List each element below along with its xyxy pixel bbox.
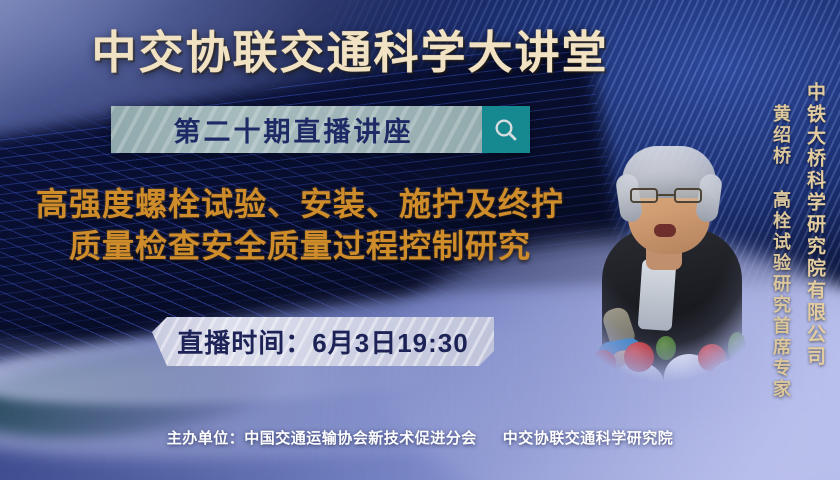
glasses-bridge-icon <box>658 194 674 196</box>
flower-bouquet <box>566 328 766 384</box>
episode-label: 第二十期直播讲座 <box>111 106 482 153</box>
live-stream-poster: 中交协联交通科学大讲堂 第二十期直播讲座 高强度螺栓试验、安装、施拧及终拧 质量… <box>0 0 840 480</box>
search-button[interactable] <box>482 106 530 153</box>
speaker-mouth <box>654 224 676 237</box>
speaker-organization: 中铁大桥科学研究院有限公司 <box>801 82 828 368</box>
lecture-title-line-2: 质量检查安全质量过程控制研究 <box>0 226 600 268</box>
search-icon <box>493 117 519 143</box>
episode-banner: 第二十期直播讲座 <box>111 106 530 153</box>
glasses-right-lens-icon <box>674 188 702 203</box>
broadcast-time-label: 直播时间：6月3日19:30 <box>177 323 468 360</box>
lecture-title-line-1: 高强度螺栓试验、安装、施拧及终拧 <box>36 186 564 222</box>
footer-organizers: 主办单位：中国交通运输协会新技术促进分会中交协联交通科学研究院 <box>0 427 840 448</box>
footer-organizer-primary: 主办单位：中国交通运输协会新技术促进分会 <box>167 430 477 447</box>
broadcast-time-badge: 直播时间：6月3日19:30 <box>152 317 494 366</box>
page-title: 中交协联交通科学大讲堂 <box>0 20 700 76</box>
speaker-name-role: 黄绍桥 高栓试验研究首席专家 <box>768 104 794 400</box>
footer-organizer-secondary: 中交协联交通科学研究院 <box>503 430 674 447</box>
glasses-left-lens-icon <box>630 188 658 203</box>
lecture-title: 高强度螺栓试验、安装、施拧及终拧 质量检查安全质量过程控制研究 <box>0 184 600 267</box>
